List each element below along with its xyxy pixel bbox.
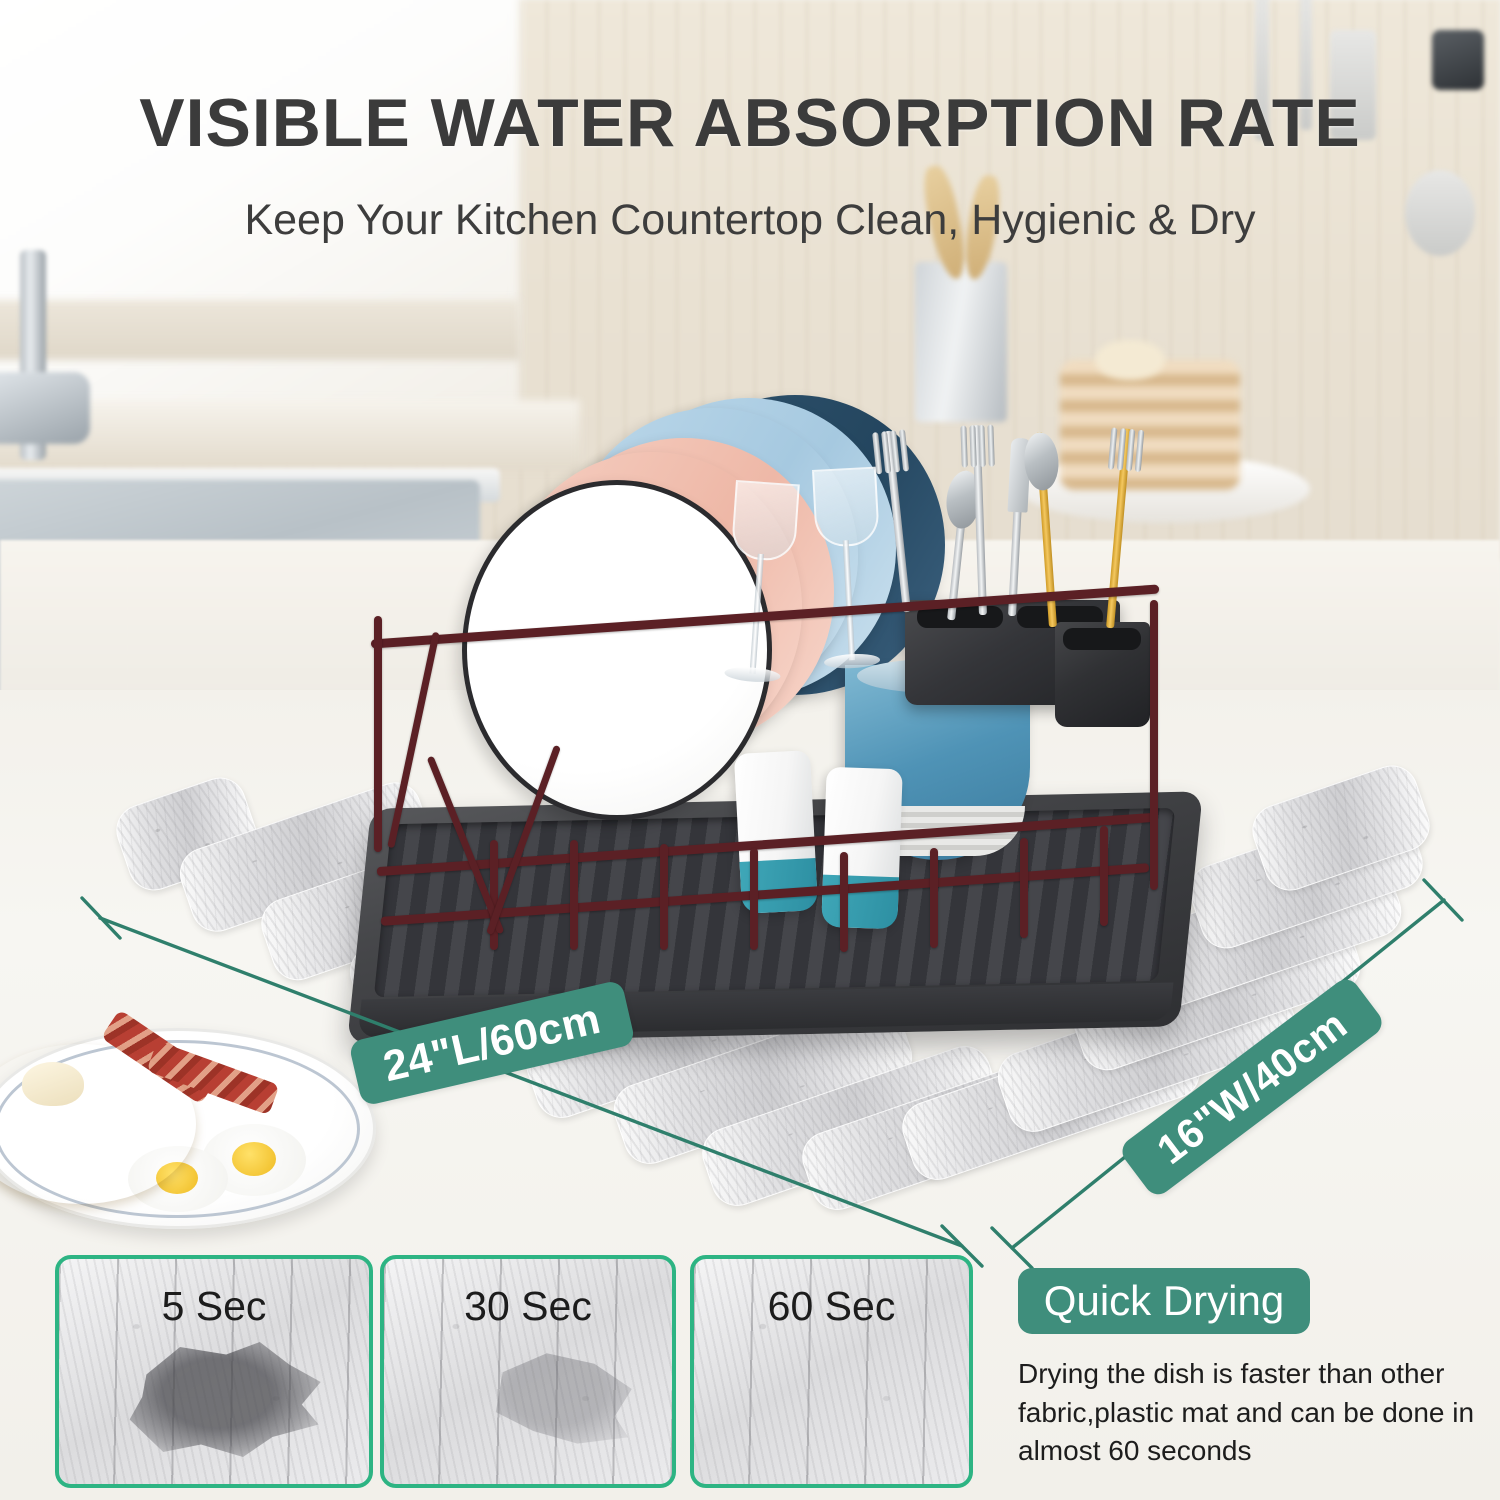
window-frame xyxy=(0,300,520,360)
utensil-crock xyxy=(915,262,1007,422)
product-infographic: 24"L/60cm 16"W/40cm VISIBLE WATER ABSORP… xyxy=(0,0,1500,1500)
water-stain-faded xyxy=(472,1347,642,1452)
quick-drying-description: Drying the dish is faster than other fab… xyxy=(1018,1355,1478,1471)
swatch-label: 60 Sec xyxy=(694,1283,969,1330)
absorption-swatch-30sec: 30 Sec xyxy=(380,1255,676,1488)
dish-drying-rack xyxy=(370,590,1160,990)
hanging-jar-icon xyxy=(1432,30,1484,90)
swatch-label: 5 Sec xyxy=(59,1283,369,1330)
waffle-breakfast-plate xyxy=(0,1000,380,1225)
butter-dollop xyxy=(22,1062,84,1106)
fork-icon xyxy=(961,425,998,616)
absorption-swatch-60sec: 60 Sec xyxy=(690,1255,973,1488)
swatch-label: 30 Sec xyxy=(384,1283,672,1330)
water-stain-large xyxy=(117,1337,327,1462)
page-title: VISIBLE WATER ABSORPTION RATE xyxy=(0,84,1500,162)
cream-topping xyxy=(1095,340,1165,380)
quick-drying-badge: Quick Drying xyxy=(1018,1268,1310,1334)
pancake-stack xyxy=(1060,360,1240,490)
page-subtitle: Keep Your Kitchen Countertop Clean, Hygi… xyxy=(0,196,1500,245)
egg-yolk xyxy=(232,1142,276,1176)
absorption-swatch-5sec: 5 Sec xyxy=(55,1255,373,1488)
faucet-head xyxy=(0,372,90,444)
